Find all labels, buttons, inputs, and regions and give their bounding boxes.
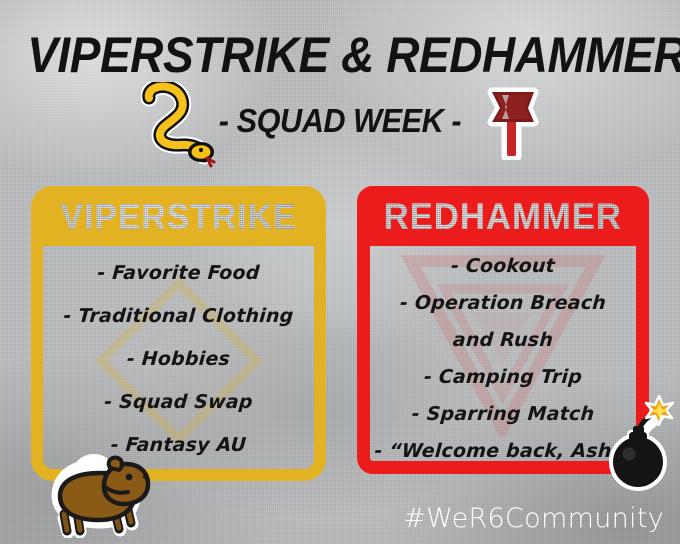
title-block: VIPERSTRIKE & REDHAMMER - SQUAD WEEK - [0,0,680,160]
card-header-viperstrike: VIPERSTRIKE [31,186,326,246]
card-viperstrike: VIPERSTRIKE VIPERSTRIKE - Favorite Food … [31,186,326,481]
list-item: - Favorite Food [42,264,314,283]
card-header-redhammer: REDHAMMER [357,186,649,246]
subtitle: - SQUAD WEEK - [24,102,656,140]
list-item: - “Welcome back, Ash.” [369,442,636,461]
hammer-icon [478,86,544,160]
poster-canvas: VIPERSTRIKE & REDHAMMER - SQUAD WEEK - [0,0,680,544]
card-list-redhammer: - Cookout - Operation Breach and Rush - … [370,257,636,479]
card-header-viperstrike-label: VIPERSTRIKE [61,194,297,238]
list-item: - Sparring Match [369,405,636,424]
list-item: - Squad Swap [42,393,314,412]
list-item: - Operation Breach [369,294,636,313]
card-list-viperstrike: - Favorite Food - Traditional Clothing -… [43,264,314,479]
subtitle-row: - SQUAD WEEK - [0,86,680,160]
hashtag-label: #WeR6Community [403,503,664,534]
list-item: - Camping Trip [369,368,636,387]
page-title: VIPERSTRIKE & REDHAMMER [27,30,653,80]
list-item: - Traditional Clothing [42,307,314,326]
card-redhammer-inner: REDHAMMER - Cookout - Operation Breach a… [370,199,636,461]
card-viperstrike-inner: VIPERSTRIKE VIPERSTRIKE - Favorite Food … [43,198,314,469]
list-item: and Rush [369,331,636,350]
list-item: - Hobbies [42,350,314,369]
list-item: - Cookout [369,257,636,276]
capybara-sticker-icon [44,452,156,538]
card-header-redhammer-label: REDHAMMER [384,194,622,238]
bomb-sticker-icon [605,392,677,494]
